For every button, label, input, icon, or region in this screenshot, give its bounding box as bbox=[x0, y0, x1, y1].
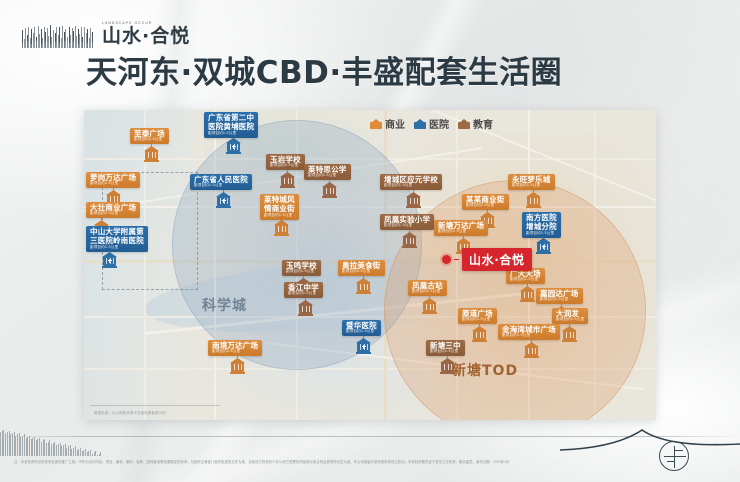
map-poi-distance: 距项目约1.5公里 bbox=[342, 270, 381, 274]
shop-pin-icon bbox=[230, 358, 245, 374]
school-pin-icon bbox=[322, 182, 337, 198]
location-map[interactable]: 科学城 新塘TOD 商业 医院 教育 至泰广场距项目约1.5公里萝岗万达广场距项… bbox=[84, 110, 656, 420]
map-poi-label[interactable]: 凤凰实验小学距项目约1.5公里 bbox=[380, 214, 434, 230]
footer-arc-graphic bbox=[560, 424, 740, 458]
map-poi-label[interactable]: 某某商业街距项目约1.5公里 bbox=[462, 194, 509, 210]
map-poi-label[interactable]: 玉岩学校距项目约1.5公里 bbox=[266, 154, 305, 170]
area-label-science-city: 科学城 bbox=[202, 295, 247, 315]
map-poi-label[interactable]: 大壮商业广场距项目约1.5公里 bbox=[86, 202, 140, 218]
map-poi-distance: 距项目约1.5公里 bbox=[288, 292, 319, 296]
map-poi-connector bbox=[543, 236, 544, 238]
map-poi-label[interactable]: 新塘万达广场距项目约1.5公里 bbox=[434, 220, 488, 236]
map-poi-distance: 距项目约1.5公里 bbox=[384, 184, 438, 188]
school-pin-icon bbox=[458, 118, 470, 129]
map-poi-connector bbox=[329, 180, 330, 182]
map-poi-connector bbox=[233, 136, 234, 138]
map-poi-distance: 距项目约1.5公里 bbox=[90, 212, 136, 216]
legend-label-commercial: 商业 bbox=[385, 116, 405, 131]
page-title: 天河东·双城CBD·丰盛配套生活圈 bbox=[86, 58, 562, 89]
brand-seal-icon bbox=[659, 441, 689, 471]
map-poi-connector bbox=[113, 188, 114, 190]
map-poi-label[interactable]: 南方医院增城分院距项目约1.5公里 bbox=[522, 212, 561, 238]
map-poi-connector bbox=[409, 230, 410, 232]
map-poi-distance: 距项目约1.5公里 bbox=[308, 174, 347, 178]
map-poi-distance: 距项目约1.5公里 bbox=[286, 270, 317, 274]
map-poi-label[interactable]: 南境万达广场距项目约1.5公里 bbox=[208, 340, 262, 356]
legend-item-hospital: 医院 bbox=[414, 116, 449, 131]
map-poi-distance: 距项目约1.5公里 bbox=[346, 330, 377, 334]
shop-pin-icon bbox=[356, 278, 371, 294]
map-poi-connector bbox=[413, 190, 414, 192]
map-poi-label[interactable]: 凤凰古站距项目约1.5公里 bbox=[408, 280, 447, 296]
map-poi-connector bbox=[569, 324, 570, 326]
map-poi-distance: 距项目约1.5公里 bbox=[412, 290, 443, 294]
brand-logo-tagline: LANDSCAPE OCCUR · bbox=[102, 21, 190, 25]
map-poi-label[interactable]: 暨华医院距项目约1.5公里 bbox=[342, 320, 381, 336]
map-poi-distance: 距项目约1.5公里 bbox=[438, 230, 484, 234]
hospital-pin-icon bbox=[414, 118, 426, 129]
brand-logo-name: 山水·合悦 bbox=[102, 27, 190, 46]
shop-pin-icon bbox=[520, 286, 535, 302]
map-poi-connector bbox=[303, 276, 304, 278]
project-marker[interactable]: 山水·合悦 bbox=[442, 248, 532, 271]
map-poi-distance: 距项目约1.5公里 bbox=[90, 246, 144, 250]
map-poi-label[interactable]: 至泰广场距项目约1.5公里 bbox=[130, 128, 169, 144]
map-poi-distance: 距项目约1.5公里 bbox=[512, 184, 551, 188]
shop-pin-icon bbox=[526, 192, 541, 208]
map-poi-distance: 距项目约1.5公里 bbox=[134, 138, 165, 142]
legend-label-hospital: 医院 bbox=[429, 116, 449, 131]
map-poi-distance: 距项目约1.5公里 bbox=[540, 298, 579, 302]
map-poi-label[interactable]: 嘉园达广场距项目约1.5公里 bbox=[536, 288, 583, 304]
legend-label-education: 教育 bbox=[473, 116, 493, 131]
map-poi-distance: 距项目约1.5公里 bbox=[526, 232, 557, 236]
map-poi-label[interactable]: 莱特城风情商业街距项目约1.5公里 bbox=[260, 194, 299, 220]
shop-pin-icon bbox=[422, 298, 437, 314]
map-poi-label[interactable]: 广东省第二中医院黄埔医院距项目约1.5公里 bbox=[204, 112, 258, 138]
map-poi-distance: 距项目约1.5公里 bbox=[264, 214, 295, 218]
area-label-xintang-tod: 新塘TOD bbox=[452, 360, 518, 380]
shop-pin-icon bbox=[562, 326, 577, 342]
map-poi-label[interactable]: 金海湾城市广场距项目约1.5公里 bbox=[498, 324, 560, 340]
map-legend: 商业 医院 教育 bbox=[370, 116, 493, 131]
map-poi-label[interactable]: 大润发距项目约1.5公里 bbox=[552, 308, 588, 324]
map-poi-distance: 距项目约1.5公里 bbox=[502, 334, 556, 338]
map-poi-label[interactable]: 玉鸣学校距项目约1.5公里 bbox=[282, 260, 321, 276]
map-poi-connector bbox=[479, 324, 480, 326]
map-poi-connector bbox=[223, 190, 224, 192]
map-poi-name: 南方医院增城分院 bbox=[526, 214, 557, 232]
school-pin-icon bbox=[440, 358, 455, 374]
map-poi-distance: 距项目约1.5公里 bbox=[212, 350, 258, 354]
map-poi-connector bbox=[363, 276, 364, 278]
map-poi-connector bbox=[287, 170, 288, 172]
hospital-pin-icon bbox=[226, 138, 241, 154]
map-poi-connector bbox=[363, 336, 364, 338]
barcode-mark-icon bbox=[22, 18, 94, 48]
map-poi-distance: 距项目约1.5公里 bbox=[462, 318, 493, 322]
map-poi-distance: 距项目约1.5公里 bbox=[510, 278, 541, 282]
map-poi-connector bbox=[527, 284, 528, 286]
legend-item-commercial: 商业 bbox=[370, 116, 405, 131]
map-poi-connector bbox=[281, 218, 282, 220]
map-poi-connector bbox=[151, 144, 152, 146]
map-poi-connector bbox=[429, 296, 430, 298]
legal-disclaimer: 注：本宣传资料仅供参考及宣传推广之用，不作为合约内容。项目、面积、朝向、装修、园… bbox=[14, 460, 726, 465]
map-poi-connector bbox=[305, 298, 306, 300]
map-poi-distance: 距项目约1.5公里 bbox=[270, 164, 301, 168]
page-header: LANDSCAPE OCCUR · 山水·合悦 天河东·双城CBD·丰盛配套生活… bbox=[0, 0, 740, 110]
footer-comb-graphic bbox=[0, 430, 120, 456]
school-pin-icon bbox=[280, 172, 295, 188]
map-poi-distance: 距项目约1.5公里 bbox=[556, 318, 584, 322]
map-note-divider bbox=[90, 405, 220, 406]
map-poi-distance: 距项目约1.5公里 bbox=[194, 184, 248, 188]
map-poi-connector bbox=[101, 218, 102, 220]
map-poi-label[interactable]: 广东省人民医院距项目约1.5公里 bbox=[190, 174, 252, 190]
map-poi-distance: 距项目约1.5公里 bbox=[208, 132, 254, 136]
shop-pin-icon bbox=[144, 146, 159, 162]
shop-pin-icon bbox=[370, 118, 382, 129]
map-poi-connector bbox=[487, 210, 488, 212]
school-pin-icon bbox=[406, 192, 421, 208]
map-poi-label[interactable]: 香江中学距项目约1.5公里 bbox=[284, 282, 323, 298]
map-poi-name: 中山大学附属第三医院岭南医院 bbox=[90, 228, 144, 246]
map-poi-label[interactable]: 莱特思公学距项目约1.5公里 bbox=[304, 164, 351, 180]
school-pin-icon bbox=[402, 232, 417, 248]
hospital-pin-icon bbox=[102, 252, 117, 268]
map-poi-distance: 距项目约1.5公里 bbox=[384, 224, 430, 228]
map-poi-label[interactable]: 增城区应元学校距项目约1.5公里 bbox=[380, 174, 442, 190]
map-poi-label[interactable]: 永旺梦乐城距项目约1.5公里 bbox=[508, 174, 555, 190]
map-poi-label[interactable]: 中山大学附属第三医院岭南医院距项目约1.5公里 bbox=[86, 226, 148, 252]
map-poi-connector bbox=[447, 356, 448, 358]
project-marker-connector bbox=[454, 259, 459, 260]
shop-pin-icon bbox=[472, 326, 487, 342]
map-poi-connector bbox=[533, 190, 534, 192]
map-poi-label[interactable]: 新塘三中距项目约1.5公里 bbox=[426, 340, 465, 356]
shop-pin-icon bbox=[274, 220, 289, 236]
brand-logo: LANDSCAPE OCCUR · 山水·合悦 bbox=[22, 18, 190, 48]
map-poi-distance: 距项目约1.5公里 bbox=[90, 182, 136, 186]
map-poi-connector bbox=[463, 236, 464, 238]
map-source-note: 数据来源：众点网络来源于百度地图截屏示例 bbox=[94, 410, 166, 415]
hospital-pin-icon bbox=[356, 338, 371, 354]
project-location-dot-icon bbox=[442, 255, 451, 264]
map-poi-name: 莱特城风情商业街 bbox=[264, 196, 295, 214]
school-pin-icon bbox=[298, 300, 313, 316]
map-poi-distance: 距项目约1.5公里 bbox=[466, 204, 505, 208]
hospital-pin-icon bbox=[216, 192, 231, 208]
map-poi-connector bbox=[561, 304, 562, 306]
map-poi-distance: 距项目约1.5公里 bbox=[430, 350, 461, 354]
map-poi-connector bbox=[109, 250, 110, 252]
hospital-pin-icon bbox=[536, 238, 551, 254]
shop-pin-icon bbox=[524, 342, 539, 358]
map-poi-name: 广东省第二中医院黄埔医院 bbox=[208, 114, 254, 132]
map-poi-label[interactable]: 原道广场距项目约1.5公里 bbox=[458, 308, 497, 324]
map-poi-connector bbox=[237, 356, 238, 358]
map-poi-label[interactable]: 萝岗万达广场距项目约1.5公里 bbox=[86, 172, 140, 188]
map-poi-label[interactable]: 奥拉美食街距项目约1.5公里 bbox=[338, 260, 385, 276]
legend-item-education: 教育 bbox=[458, 116, 493, 131]
map-poi-connector bbox=[531, 340, 532, 342]
project-label: 山水·合悦 bbox=[462, 248, 532, 271]
